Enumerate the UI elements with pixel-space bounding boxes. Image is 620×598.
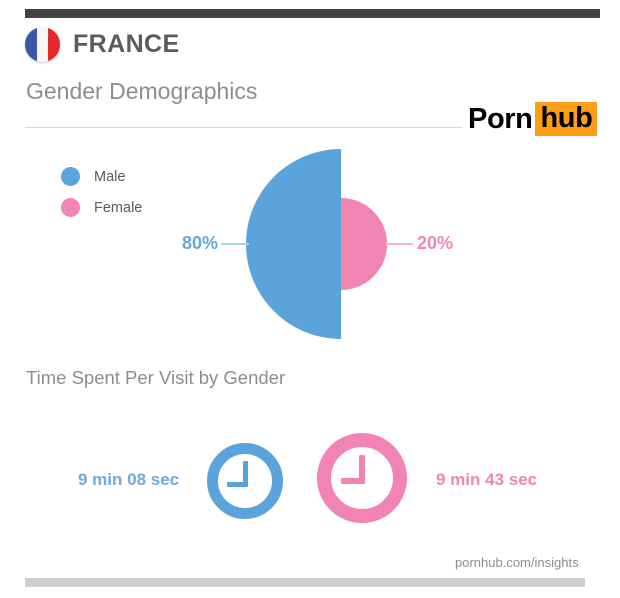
chart-half-male [246,149,341,339]
chart-half-female [341,198,387,290]
header: FRANCE [25,27,180,62]
clock-icon-male [207,443,283,519]
leader-line-male [221,243,249,245]
time-section-title: Time Spent Per Visit by Gender [26,369,285,388]
country-title: FRANCE [73,32,180,57]
leader-line-female [385,243,413,245]
page-subtitle: Gender Demographics [26,80,257,103]
time-value-male: 9 min 08 sec [78,471,179,488]
clock-icon-female [317,433,407,523]
legend-item-female: Female [61,198,142,217]
clock-hand-minute [341,478,365,484]
percent-label-female: 20% [417,233,453,254]
legend-dot-male [61,167,80,186]
percent-label-male: 80% [140,233,218,254]
logo-text-hub: hub [535,102,597,136]
header-divider [25,127,462,128]
chart-legend: Male Female [61,167,142,229]
bottom-rule [25,578,585,587]
legend-label-male: Male [94,169,125,185]
legend-item-male: Male [61,167,142,186]
footer-link[interactable]: pornhub.com/insights [455,556,579,569]
pornhub-logo: Pornhub [468,102,597,136]
flag-stripe-white [37,27,49,62]
gender-split-chart: 80% 20% [185,145,485,350]
top-rule [25,9,600,18]
logo-text-porn: Porn [468,105,535,134]
flag-stripe-blue [25,27,37,62]
infographic-page: FRANCE Gender Demographics Pornhub Male … [0,0,620,598]
clock-hand-minute [227,482,248,487]
time-value-female: 9 min 43 sec [436,471,537,488]
flag-stripe-red [48,27,60,62]
france-flag-icon [25,27,60,62]
legend-dot-female [61,198,80,217]
legend-label-female: Female [94,200,142,216]
